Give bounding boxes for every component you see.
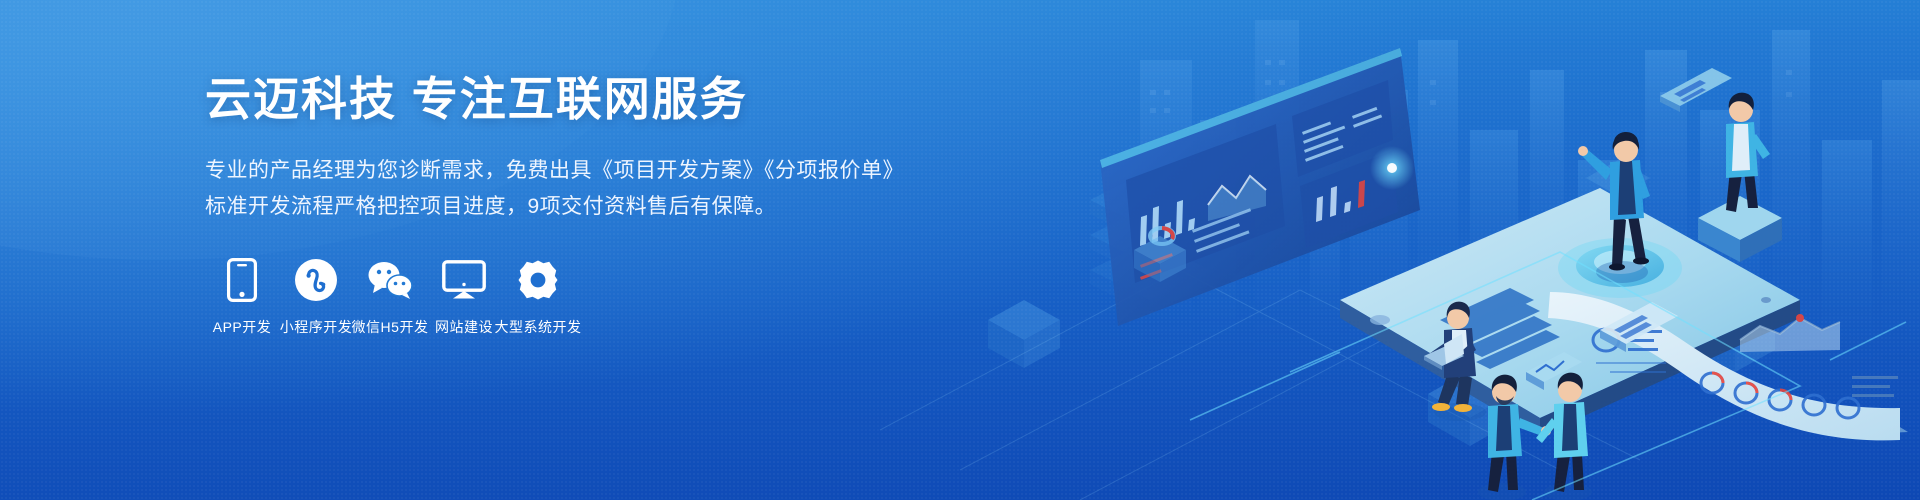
subtitle-line-1: 专业的产品经理为您诊断需求，免费出具《项目开发方案》《分项报价单》 — [205, 153, 904, 189]
banner-subtitle: 专业的产品经理为您诊断需求，免费出具《项目开发方案》《分项报价单》 标准开发流程… — [205, 153, 904, 225]
person-far-right — [1698, 93, 1782, 262]
mini-program-icon — [293, 257, 339, 303]
hero-illustration — [1040, 0, 1920, 500]
service-item-wechat-h5[interactable]: 微信H5开发 — [353, 257, 427, 337]
subtitle-line-2: 标准开发流程严格把控项目进度，9项交付资料售后有保障。 — [205, 189, 904, 225]
service-label: 网站建设 — [435, 317, 493, 337]
service-item-app[interactable]: APP开发 — [205, 257, 279, 337]
service-label: 小程序开发 — [280, 317, 353, 337]
wechat-bubbles-icon — [367, 257, 413, 303]
dashboard-screen — [1100, 48, 1420, 326]
service-label: APP开发 — [213, 317, 272, 337]
service-item-website[interactable]: 网站建设 — [427, 257, 501, 337]
service-label: 大型系统开发 — [495, 317, 582, 337]
gear-icon — [515, 257, 561, 303]
service-list: APP开发 小程序开发 — [205, 257, 904, 337]
floating-mini-card-1 — [1660, 68, 1732, 112]
service-item-large-system[interactable]: 大型系统开发 — [501, 257, 575, 337]
page-title: 云迈科技 专注互联网服务 — [205, 72, 904, 127]
desktop-monitor-icon — [441, 257, 487, 303]
service-label: 微信H5开发 — [352, 317, 429, 337]
banner-copy: 云迈科技 专注互联网服务 专业的产品经理为您诊断需求，免费出具《项目开发方案》《… — [205, 0, 904, 500]
service-item-mini-program[interactable]: 小程序开发 — [279, 257, 353, 337]
hero-banner: 云迈科技 专注互联网服务 专业的产品经理为您诊断需求，免费出具《项目开发方案》《… — [0, 0, 1920, 500]
mobile-phone-icon — [219, 257, 265, 303]
